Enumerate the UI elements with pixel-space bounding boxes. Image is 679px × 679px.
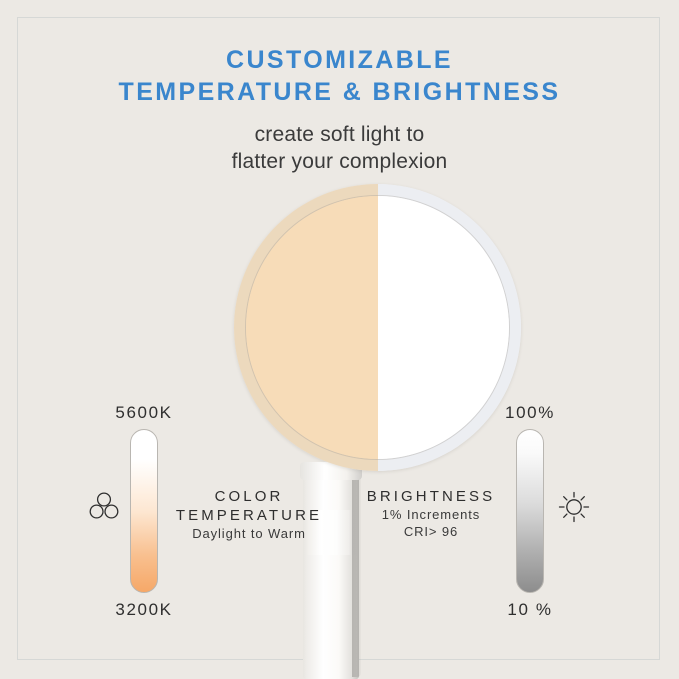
brightness-max-label: 100% <box>470 403 590 423</box>
color-temperature-min-label: 3200K <box>84 600 204 620</box>
color-temperature-subtitle: Daylight to Warm <box>170 525 328 542</box>
color-temperature-max-label: 5600K <box>84 403 204 423</box>
stand-segment-lower <box>305 613 357 679</box>
three-circles-icon <box>84 487 124 527</box>
brightness-slider[interactable] <box>516 429 544 593</box>
color-temperature-label-block: COLOR TEMPERATURE Daylight to Warm <box>170 487 328 542</box>
color-temperature-slider[interactable] <box>130 429 158 593</box>
color-temperature-title-line-2: TEMPERATURE <box>170 506 328 525</box>
color-temperature-title-line-1: COLOR <box>170 487 328 506</box>
stand-segment-middle <box>305 555 357 613</box>
brightness-label-block: BRIGHTNESS 1% Increments CRI> 96 <box>352 487 510 540</box>
sun-icon <box>554 487 594 527</box>
product-illustration <box>0 0 679 679</box>
brightness-min-label: 10 % <box>470 600 590 620</box>
infographic-canvas: CUSTOMIZABLE TEMPERATURE & BRIGHTNESS cr… <box>0 0 679 679</box>
brightness-subtitle-line-2: CRI> 96 <box>352 523 510 540</box>
brightness-title: BRIGHTNESS <box>352 487 510 506</box>
brightness-subtitle-line-1: 1% Increments <box>352 506 510 523</box>
ring-face-warm-half <box>246 196 378 459</box>
